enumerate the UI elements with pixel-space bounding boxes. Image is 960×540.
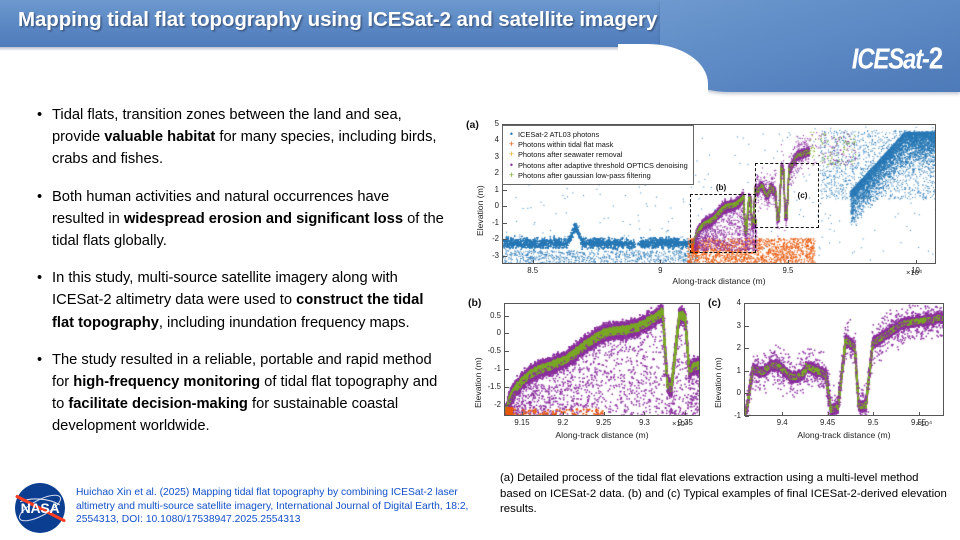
y-tick-label: 2 [720, 343, 741, 352]
x-tick-label: 9 [642, 266, 678, 275]
legend-label: Photons after gaussian low-pass filterin… [518, 171, 651, 180]
nasa-logo: NASA [14, 482, 66, 534]
y-tick-label: 0 [478, 201, 499, 210]
y-tick-label: 1 [478, 185, 499, 194]
y-tick-mark [503, 223, 507, 224]
y-tick-label: 3 [478, 152, 499, 161]
legend-entry: •ICESat-2 ATL03 photons [507, 129, 688, 139]
y-tick-mark [503, 239, 507, 240]
inset-label: (b) [716, 183, 726, 192]
bullet-marker: • [32, 267, 52, 334]
x-tick-label: 9.35 [667, 418, 703, 427]
y-tick-label: -1.5 [480, 382, 501, 391]
y-tick-mark [505, 387, 509, 388]
bullet-text: Both human activities and natural occurr… [52, 186, 444, 253]
nasa-meatball-icon: NASA [14, 482, 66, 534]
y-tick-label: -0.5 [480, 346, 501, 355]
y-tick-label: -1 [720, 411, 741, 420]
icesat2-logo-text: ICESat- [852, 43, 929, 76]
x-tick-mark [828, 412, 829, 416]
bullet-text: Tidal flats, transition zones between th… [52, 104, 444, 171]
legend-marker-icon: + [507, 171, 516, 180]
y-tick-label: 2 [478, 168, 499, 177]
bullet-marker: • [32, 349, 52, 438]
x-tick-mark [533, 260, 534, 264]
y-tick-label: 1 [720, 366, 741, 375]
y-tick-mark [503, 190, 507, 191]
x-tick-mark [522, 412, 523, 416]
y-tick-label: 0 [480, 328, 501, 337]
y-tick-mark [745, 393, 749, 394]
inset-label: (c) [798, 191, 808, 200]
y-tick-mark [745, 371, 749, 372]
x-tick-mark [660, 260, 661, 264]
x-tick-label: 9.4 [764, 418, 800, 427]
panel-c-scatter-canvas [745, 304, 944, 416]
header-banner: Mapping tidal flat topography using ICES… [0, 0, 960, 100]
figure-panel: (a) Elevation (m) •ICESat-2 ATL03 photon… [466, 118, 952, 468]
legend-label: Photons after adaptive threshold OPTICS … [518, 161, 688, 170]
legend-entry: +Photons within tidal flat mask [507, 139, 688, 149]
legend-entry: +Photons after gaussian low-pass filteri… [507, 171, 688, 181]
panel-c-tag: (c) [708, 297, 721, 309]
legend-marker-icon: • [507, 161, 516, 170]
y-tick-mark [745, 348, 749, 349]
bullet-item: •The study resulted in a reliable, porta… [32, 349, 444, 438]
panel-a-legend: •ICESat-2 ATL03 photons+Photons within t… [502, 125, 694, 185]
y-tick-mark [745, 326, 749, 327]
bullet-text: The study resulted in a reliable, portab… [52, 349, 444, 438]
inset-box-b [690, 194, 756, 253]
y-tick-label: 3 [720, 321, 741, 330]
x-tick-mark [916, 260, 917, 264]
y-tick-label: -2 [478, 234, 499, 243]
panel-a-xlabel: Along-track distance (m) [502, 276, 936, 286]
x-tick-label: 10 [898, 266, 934, 275]
x-tick-label: 9.5 [855, 418, 891, 427]
bullet-item: •Tidal flats, transition zones between t… [32, 104, 444, 171]
y-tick-mark [505, 316, 509, 317]
legend-label: ICESat-2 ATL03 photons [518, 130, 599, 139]
bullet-text: In this study, multi-source satellite im… [52, 267, 444, 334]
chart-panel-a: (a) Elevation (m) •ICESat-2 ATL03 photon… [466, 118, 952, 290]
y-tick-mark [503, 256, 507, 257]
y-tick-mark [503, 206, 507, 207]
y-tick-label: -1 [478, 218, 499, 227]
y-tick-mark [505, 369, 509, 370]
x-tick-label: 9.55 [901, 418, 937, 427]
legend-label: Photons within tidal flat mask [518, 140, 613, 149]
panel-b-plot-area [504, 303, 700, 416]
x-tick-mark [604, 412, 605, 416]
x-tick-label: 9.15 [504, 418, 540, 427]
bullet-marker: • [32, 104, 52, 171]
x-tick-mark [873, 412, 874, 416]
x-tick-mark [563, 412, 564, 416]
x-tick-label: 8.5 [515, 266, 551, 275]
x-tick-mark [782, 412, 783, 416]
x-tick-label: 9.3 [626, 418, 662, 427]
y-tick-mark [745, 303, 749, 304]
panel-a-tag: (a) [466, 119, 479, 131]
y-tick-label: 5 [478, 119, 499, 128]
y-tick-label: -2 [480, 400, 501, 409]
chart-panel-b: (b) Elevation (m) Along-track distance (… [466, 296, 706, 456]
y-tick-mark [505, 405, 509, 406]
y-tick-label: -3 [478, 251, 499, 260]
page-title: Mapping tidal flat topography using ICES… [18, 8, 778, 32]
svg-text:NASA: NASA [21, 500, 60, 516]
legend-entry: +Photons after seawater removal [507, 150, 688, 160]
panel-c-plot-area [744, 303, 944, 416]
inset-box-c [755, 163, 819, 228]
x-tick-label: 9.2 [545, 418, 581, 427]
x-tick-mark [644, 412, 645, 416]
x-tick-mark [685, 412, 686, 416]
y-tick-label: 4 [478, 135, 499, 144]
y-tick-mark [505, 351, 509, 352]
legend-label: Photons after seawater removal [518, 150, 622, 159]
panel-c-xlabel: Along-track distance (m) [744, 430, 944, 440]
legend-marker-icon: + [507, 150, 516, 159]
legend-entry: •Photons after adaptive threshold OPTICS… [507, 160, 688, 170]
x-tick-label: 9.45 [810, 418, 846, 427]
panel-b-xlabel: Along-track distance (m) [504, 430, 700, 440]
bullet-list: •Tidal flats, transition zones between t… [32, 104, 444, 453]
bullet-item: •Both human activities and natural occur… [32, 186, 444, 253]
icesat2-logo: ICESat-2 [852, 43, 942, 76]
x-tick-label: 9.5 [770, 266, 806, 275]
y-tick-label: 4 [720, 298, 741, 307]
citation-text: Huichao Xin et al. (2025) Mapping tidal … [76, 486, 470, 527]
panel-b-scatter-canvas [505, 304, 700, 416]
y-tick-label: 0.5 [480, 311, 501, 320]
panel-b-tag: (b) [468, 297, 481, 309]
y-tick-mark [505, 333, 509, 334]
x-tick-label: 9.25 [586, 418, 622, 427]
y-tick-mark [745, 416, 749, 417]
bullet-marker: • [32, 186, 52, 253]
legend-marker-icon: • [507, 130, 516, 139]
x-tick-mark [919, 412, 920, 416]
legend-marker-icon: + [507, 140, 516, 149]
x-tick-mark [788, 260, 789, 264]
y-tick-label: 0 [720, 388, 741, 397]
y-tick-label: -1 [480, 364, 501, 373]
figure-caption: (a) Detailed process of the tidal flat e… [500, 471, 952, 518]
chart-panel-c: (c) Elevation (m) Along-track distance (… [706, 296, 952, 456]
bullet-item: •In this study, multi-source satellite i… [32, 267, 444, 334]
